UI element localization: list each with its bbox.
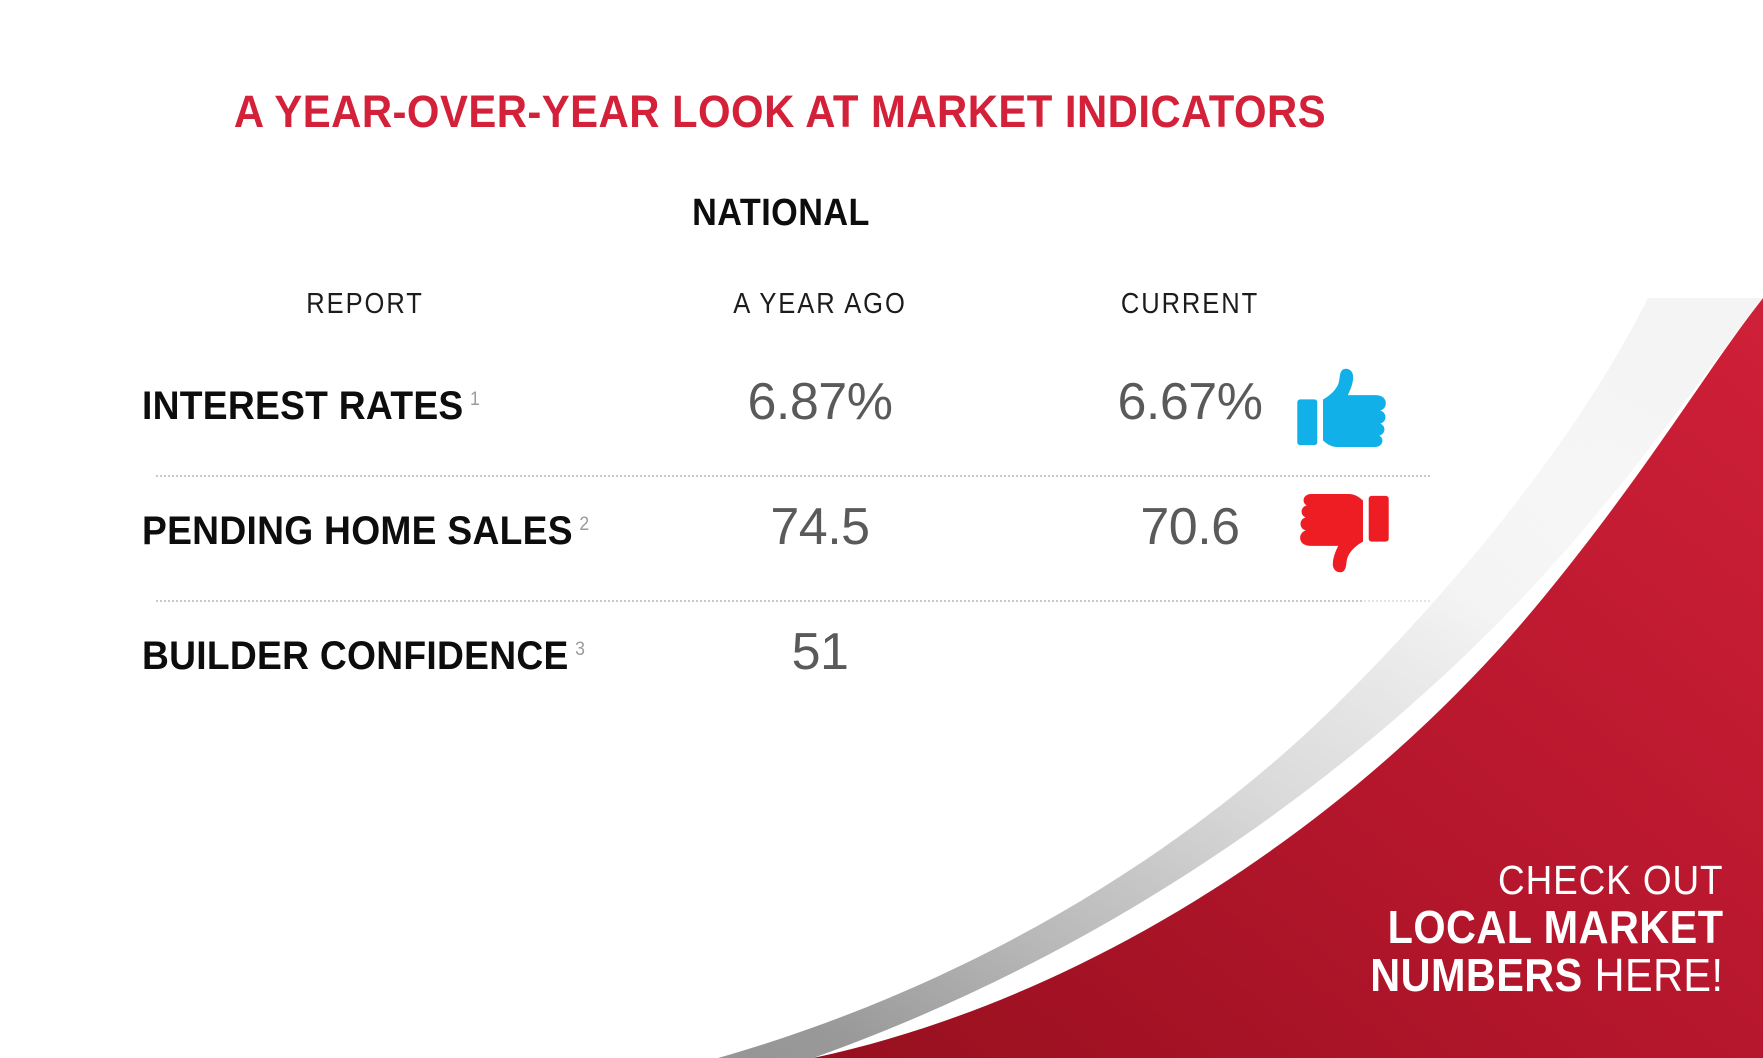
table-row: PENDING HOME SALES2 74.5 70.6	[140, 475, 1430, 600]
row-label-text: BUILDER CONFIDENCE	[142, 634, 569, 678]
section-label-national: NATIONAL	[78, 192, 1484, 235]
table-header-row: REPORT A YEAR AGO CURRENT	[140, 288, 1430, 350]
row-label-text: INTEREST RATES	[142, 384, 464, 428]
column-header-report: REPORT	[259, 288, 470, 321]
thumbs-down-icon	[1295, 493, 1391, 573]
cta-local-market-numbers[interactable]: CHECK OUT LOCAL MARKET NUMBERS HERE!	[1370, 859, 1723, 1000]
market-indicators-table: REPORT A YEAR AGO CURRENT INTEREST RATES…	[140, 288, 1430, 725]
thumbs-up-icon	[1295, 368, 1391, 448]
footnote-marker: 1	[470, 389, 480, 410]
cta-line-2: LOCAL MARKET	[1370, 903, 1723, 952]
row-value-past: 51	[680, 622, 960, 682]
row-label-text: PENDING HOME SALES	[142, 509, 573, 553]
row-divider	[156, 600, 1430, 602]
market-indicators-infographic: A YEAR-OVER-YEAR LOOK AT MARKET INDICATO…	[0, 0, 1763, 1058]
row-value-past: 6.87%	[680, 372, 960, 432]
cta-line-3: NUMBERS HERE!	[1370, 951, 1723, 1000]
row-label-pending-home-sales: PENDING HOME SALES2	[142, 509, 589, 554]
footnote-marker: 3	[575, 639, 585, 660]
cta-line-3-light: HERE!	[1594, 949, 1723, 1001]
table-row: BUILDER CONFIDENCE3 51	[140, 600, 1430, 725]
row-label-builder-confidence: BUILDER CONFIDENCE3	[142, 634, 585, 679]
page-title: A YEAR-OVER-YEAR LOOK AT MARKET INDICATO…	[55, 86, 1506, 138]
footnote-marker: 2	[579, 514, 589, 535]
cta-line-3-bold: NUMBERS	[1370, 949, 1582, 1001]
table-row: INTEREST RATES1 6.87% 6.67%	[140, 350, 1430, 475]
row-value-past: 74.5	[680, 497, 960, 557]
cta-line-1: CHECK OUT	[1370, 859, 1723, 902]
row-label-interest-rates: INTEREST RATES1	[142, 384, 480, 429]
row-divider	[156, 475, 1430, 477]
column-header-a-year-ago: A YEAR AGO	[697, 288, 943, 321]
column-header-current: CURRENT	[1058, 288, 1322, 321]
